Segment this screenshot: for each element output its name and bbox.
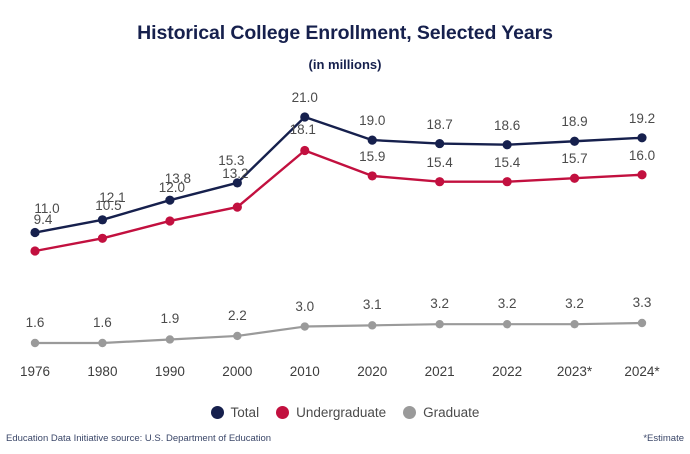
point-label-undergraduate-2024*: 16.0 [629,148,655,163]
point-label-graduate-2010: 3.0 [295,299,314,314]
data-point-graduate-2021[interactable] [435,320,443,328]
series-group [30,112,646,347]
data-point-graduate-1990[interactable] [166,335,174,343]
data-point-graduate-2022[interactable] [503,320,511,328]
point-label-undergraduate-2020: 15.9 [359,149,385,164]
series-line-total [35,117,642,233]
footer-note: *Estimate [643,433,684,444]
chart-legend: TotalUndergraduateGraduate [0,405,690,420]
point-label-undergraduate-2021: 15.4 [427,155,453,170]
plot-area: 11.012.113.815.321.019.018.718.618.919.2… [0,0,690,454]
point-label-total-2022: 18.6 [494,118,520,133]
data-point-total-1980[interactable] [98,215,107,224]
data-point-total-1976[interactable] [30,228,39,237]
chart-container: Historical College Enrollment, Selected … [0,0,690,454]
series-lines-svg [0,0,690,454]
data-point-undergraduate-2010[interactable] [300,146,309,155]
point-label-total-2024*: 19.2 [629,111,655,126]
x-axis-tick-2024*: 2024* [624,364,659,379]
point-label-undergraduate-1980: 10.5 [95,198,121,213]
point-label-undergraduate-2010: 18.1 [290,122,316,137]
legend-label-undergraduate: Undergraduate [296,405,386,420]
point-label-total-2023*: 18.9 [561,114,587,129]
data-point-undergraduate-2024*[interactable] [637,170,646,179]
footer-source: Education Data Initiative source: U.S. D… [6,433,271,444]
x-axis-tick-1990: 1990 [155,364,185,379]
data-point-graduate-1976[interactable] [31,339,39,347]
point-label-graduate-1990: 1.9 [160,311,179,326]
data-point-undergraduate-1976[interactable] [30,246,39,255]
data-point-undergraduate-1990[interactable] [165,216,174,225]
point-label-undergraduate-2023*: 15.7 [561,151,587,166]
point-label-total-2020: 19.0 [359,113,385,128]
x-axis-tick-2020: 2020 [357,364,387,379]
data-point-total-2020[interactable] [368,136,377,145]
data-point-graduate-2020[interactable] [368,321,376,329]
x-axis-tick-2023*: 2023* [557,364,592,379]
data-point-total-1990[interactable] [165,196,174,205]
data-point-graduate-1980[interactable] [98,339,106,347]
point-label-graduate-1976: 1.6 [26,315,45,330]
legend-label-total: Total [231,405,260,420]
point-label-undergraduate-2022: 15.4 [494,155,520,170]
point-label-graduate-2020: 3.1 [363,297,382,312]
point-label-graduate-2023*: 3.2 [565,296,584,311]
data-point-undergraduate-2022[interactable] [503,177,512,186]
point-label-undergraduate-1990: 12.0 [159,180,185,195]
series-line-graduate [35,323,642,343]
data-point-total-2022[interactable] [503,140,512,149]
legend-swatch-icon-undergraduate [276,406,289,419]
x-axis-tick-2021: 2021 [425,364,455,379]
data-point-undergraduate-2021[interactable] [435,177,444,186]
data-point-total-2010[interactable] [300,112,309,121]
legend-swatch-icon-total [211,406,224,419]
data-point-undergraduate-2000[interactable] [233,203,242,212]
legend-item-undergraduate[interactable]: Undergraduate [276,405,386,420]
point-label-undergraduate-1976: 9.4 [34,212,53,227]
data-point-graduate-2023*[interactable] [570,320,578,328]
series-line-undergraduate [35,151,642,252]
legend-item-graduate[interactable]: Graduate [403,405,479,420]
point-label-total-2010: 21.0 [292,90,318,105]
data-point-undergraduate-1980[interactable] [98,234,107,243]
x-axis-tick-1980: 1980 [87,364,117,379]
data-point-total-2024*[interactable] [637,133,646,142]
point-label-graduate-1980: 1.6 [93,315,112,330]
data-point-undergraduate-2023*[interactable] [570,174,579,183]
x-axis-tick-2022: 2022 [492,364,522,379]
x-axis-tick-2010: 2010 [290,364,320,379]
x-axis-tick-2000: 2000 [222,364,252,379]
point-label-graduate-2000: 2.2 [228,308,247,323]
x-axis-tick-1976: 1976 [20,364,50,379]
legend-label-graduate: Graduate [423,405,479,420]
point-label-undergraduate-2000: 13.2 [222,166,248,181]
data-point-total-2021[interactable] [435,139,444,148]
data-point-undergraduate-2020[interactable] [368,171,377,180]
data-point-graduate-2010[interactable] [301,322,309,330]
data-point-graduate-2024*[interactable] [638,319,646,327]
data-point-graduate-2000[interactable] [233,332,241,340]
point-label-graduate-2024*: 3.3 [633,295,652,310]
legend-swatch-icon-graduate [403,406,416,419]
point-label-total-2021: 18.7 [427,117,453,132]
data-point-total-2023*[interactable] [570,137,579,146]
point-label-graduate-2021: 3.2 [430,296,449,311]
legend-item-total[interactable]: Total [211,405,260,420]
point-label-graduate-2022: 3.2 [498,296,517,311]
